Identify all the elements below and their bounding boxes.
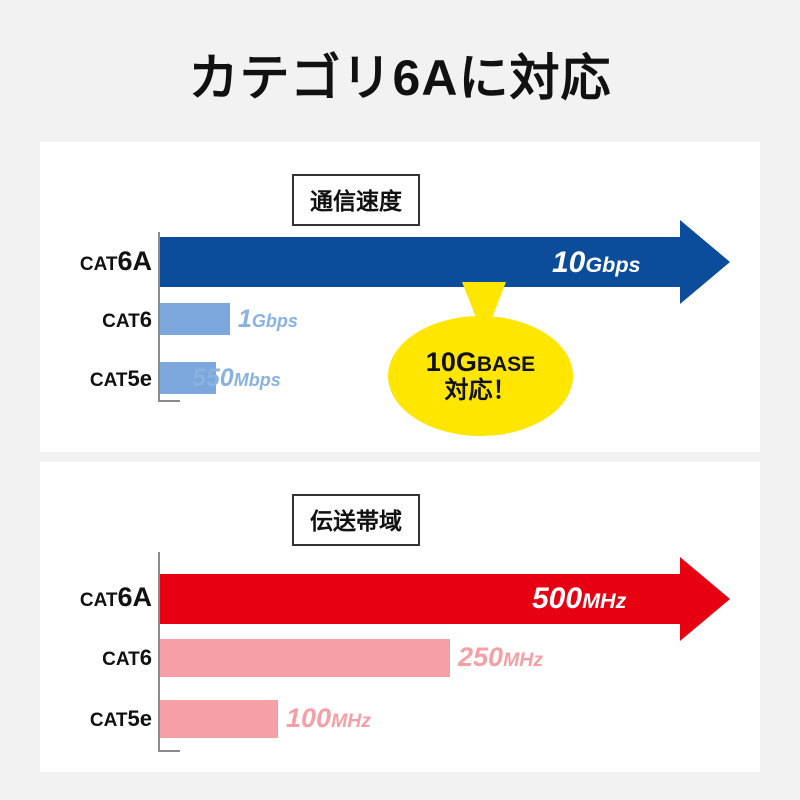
category-label-cat5e-speed: CAT5e	[40, 366, 152, 392]
axis-horizontal-bandwidth	[158, 750, 180, 752]
category-label-cat6-bandwidth: CAT6	[40, 645, 152, 671]
axis-horizontal-speed	[158, 400, 180, 402]
category-label-cat5e-bandwidth: CAT5e	[40, 706, 152, 732]
callout-text: 10GBASE 対応！	[426, 347, 535, 404]
value-label-cat6-bandwidth: 250MHz	[458, 642, 543, 673]
bar-cat6-bandwidth	[160, 639, 450, 677]
panel-label-bandwidth: 伝送帯域	[292, 494, 420, 546]
category-label-cat6a-speed: CAT6A	[40, 246, 152, 277]
callout-balloon: 10GBASE 対応！	[388, 316, 573, 436]
value-label-cat6-speed: 1Gbps	[238, 305, 298, 334]
bar-arrowhead-cat6a-bandwidth	[680, 557, 730, 641]
category-label-cat6-speed: CAT6	[40, 307, 152, 333]
page-title: カテゴリ6Aに対応	[0, 38, 800, 110]
panel-bandwidth: 伝送帯域 CAT6A 500MHz CAT6 250MHz CAT5e 100M…	[40, 462, 760, 772]
bar-cat5e-bandwidth	[160, 700, 278, 738]
panel-speed: 通信速度 CAT6A 10Gbps CAT6 1Gbps CAT5e 550Mb…	[40, 142, 760, 452]
value-label-cat6a-bandwidth: 500MHz	[532, 582, 626, 616]
value-label-cat5e-bandwidth: 100MHz	[286, 703, 371, 734]
value-label-cat6a-speed: 10Gbps	[552, 246, 641, 280]
value-label-cat5e-speed: 550Mbps	[192, 364, 281, 393]
category-label-cat6a-bandwidth: CAT6A	[40, 582, 152, 613]
page-root: カテゴリ6Aに対応 通信速度 CAT6A 10Gbps CAT6 1Gbps C…	[0, 0, 800, 800]
bar-arrowhead-cat6a-speed	[680, 220, 730, 304]
bar-cat6-speed	[160, 303, 230, 335]
panel-label-speed: 通信速度	[292, 174, 420, 226]
